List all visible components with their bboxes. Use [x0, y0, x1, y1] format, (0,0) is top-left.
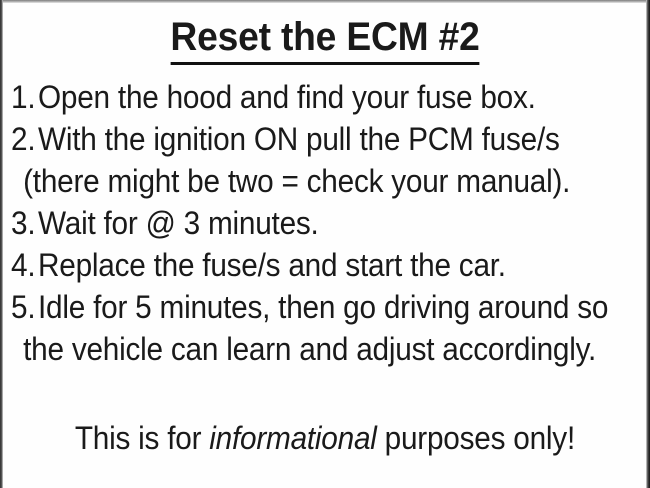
disclaimer-before: This is for: [75, 420, 209, 456]
step-text: Idle for 5 minutes, then go driving arou…: [38, 286, 608, 370]
step-text: With the ignition ON pull the PCM fuse/s…: [38, 118, 594, 202]
disclaimer-after: purposes only!: [377, 420, 575, 456]
slide-canvas: Reset the ECM #2 1. Open the hood and fi…: [0, 0, 650, 488]
step-number: 5.: [11, 286, 36, 328]
list-item: 1. Open the hood and find your fuse box.: [11, 76, 636, 118]
steps-list: 1. Open the hood and find your fuse box.…: [11, 76, 636, 370]
step-text: Open the hood and find your fuse box.: [38, 76, 594, 118]
step-line: Wait for @ 3 minutes.: [38, 205, 319, 241]
step-number: 2.: [11, 118, 36, 160]
slide-title: Reset the ECM #2: [23, 14, 628, 65]
disclaimer-text: This is for informational purposes only!: [75, 418, 575, 458]
step-number: 4.: [11, 244, 36, 286]
step-line: Idle for 5 minutes, then go driving arou…: [38, 289, 608, 325]
slide-title-text: Reset the ECM #2: [170, 14, 479, 65]
step-line: With the ignition ON pull the PCM fuse/s: [38, 121, 560, 157]
scan-edge-left: [0, 0, 3, 488]
scan-edge-top: [0, 0, 650, 3]
list-item: 3. Wait for @ 3 minutes.: [11, 202, 636, 244]
step-text: Wait for @ 3 minutes.: [38, 202, 594, 244]
list-item: 2. With the ignition ON pull the PCM fus…: [11, 118, 636, 202]
step-number: 3.: [11, 202, 36, 244]
disclaimer-note: This is for informational purposes only!: [0, 418, 650, 458]
list-item: 5. Idle for 5 minutes, then go driving a…: [11, 286, 636, 370]
step-line-continued: the vehicle can learn and adjust accordi…: [31, 328, 609, 370]
disclaimer-emphasis: informational: [209, 420, 376, 456]
scan-edge-right: [646, 0, 650, 488]
list-item: 4. Replace the fuse/s and start the car.: [11, 244, 636, 286]
step-line: Replace the fuse/s and start the car.: [38, 247, 506, 283]
step-number: 1.: [11, 76, 36, 118]
step-line-continued: (there might be two = check your manual)…: [31, 160, 595, 202]
step-line: Open the hood and find your fuse box.: [38, 79, 536, 115]
step-text: Replace the fuse/s and start the car.: [38, 244, 594, 286]
